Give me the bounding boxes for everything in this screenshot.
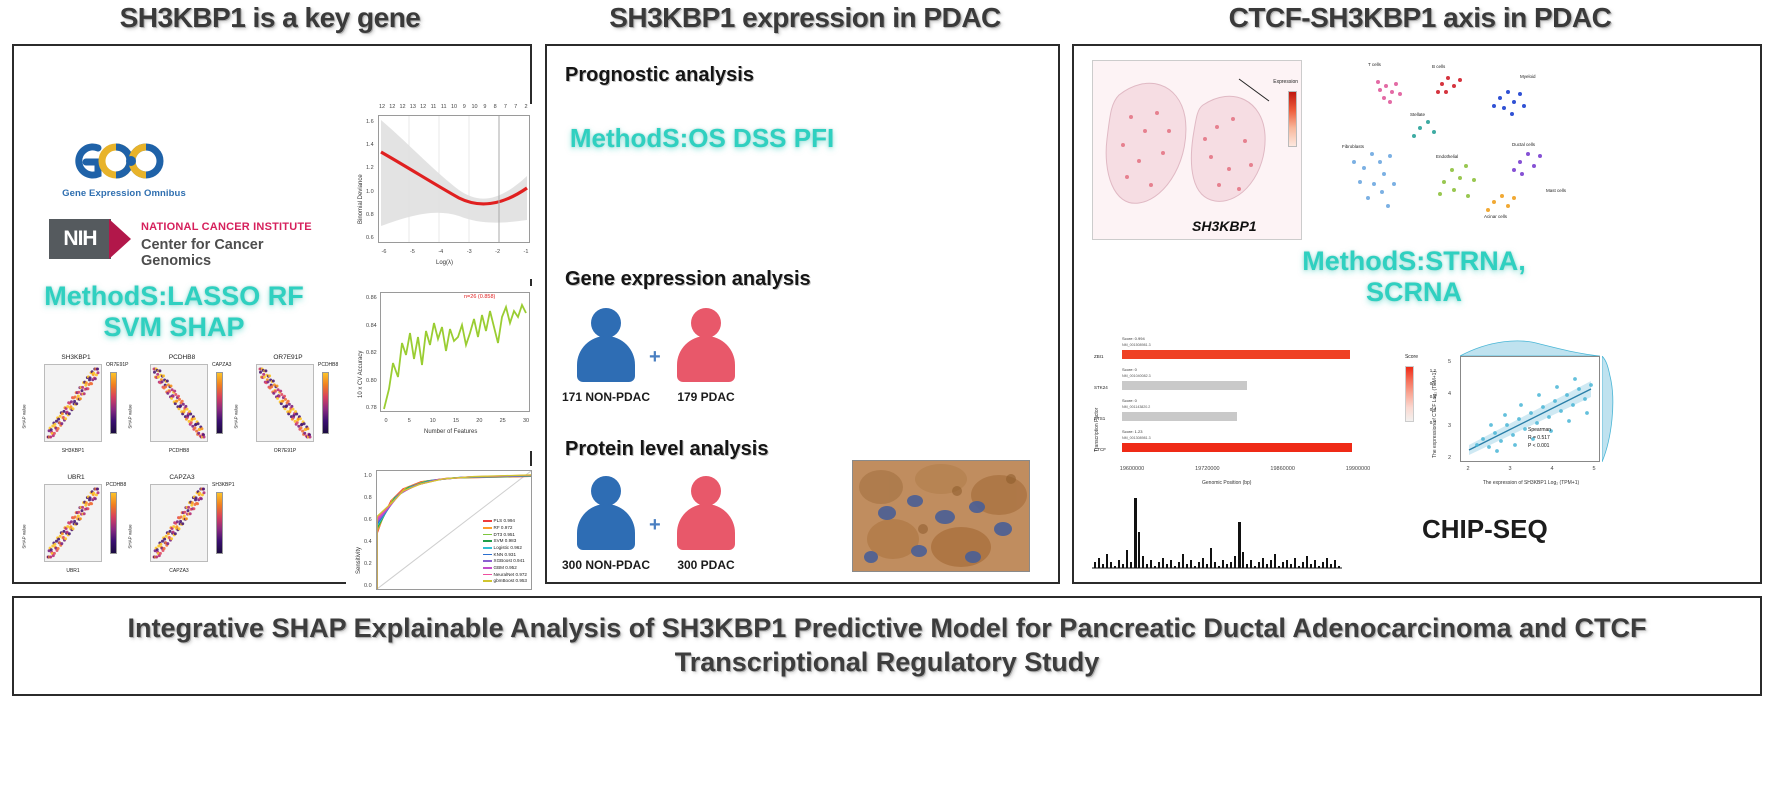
roc-legend-item: PLS 0.994 [483,518,527,525]
correlation-x-tick: 5 [1592,466,1595,472]
shap-points [151,485,207,561]
geo-logo: Gene Expression Omnibus [54,136,194,208]
roc-legend-label: gbmBoost 0.953 [494,578,527,583]
lasso-y-tick: 1.2 [366,165,374,171]
correlation-stat-line: Spearman [1528,426,1551,434]
panel3-methods-text: MethodS:STRNA, SCRNA [1254,246,1574,308]
person-head-icon [591,476,621,506]
shap-points [45,485,101,561]
roc-legend-swatch [483,540,492,542]
shap-colorbar [216,372,223,434]
lasso-top-count: 9 [483,104,486,110]
chip-score-text: Score: 0.994 [1122,336,1145,341]
ctcf-correlation-plot: SpearmanR = 0.517P < 0.001 The expressio… [1420,334,1645,499]
shap-y-label: SHAP value [128,524,133,548]
shap-plot-title: OR7E91P [238,354,338,361]
shap-y-label: SHAP value [22,524,27,548]
panel1-methods-text: MethodS:LASSO RF SVM SHAP [24,281,324,343]
chip-x-tick: 19720000 [1195,466,1219,472]
person-body-icon [677,336,735,382]
lasso-y-tick: 0.8 [366,212,374,218]
roc-y-tick: 0.4 [364,539,372,545]
roc-legend-item: Logistic 0.962 [483,545,527,552]
cv-x-tick: 20 [476,418,482,424]
shap-x-label: SH3KBP1 [44,448,102,454]
shap-dependence-plot: PCDHB8SHAP valuePCDHB8CAPZA3 [132,354,232,466]
cv-x-tick: 10 [430,418,436,424]
roc-legend-item: GBM 0.952 [483,565,527,572]
panel-expression: Prognostic analysis MethodS:OS DSS PFI S… [545,44,1060,584]
roc-legend-swatch [483,574,492,576]
lasso-top-count: 12 [389,104,395,110]
shap-scatter-area [150,484,208,562]
chip-x-label: Genomic Position (bp) [1202,480,1251,486]
nci-line-1: NATIONAL CANCER INSTITUTE [141,221,312,233]
chip-tf-label: STK24 [1094,385,1108,390]
shap-points [257,365,313,441]
shap-x-label: UBR1 [44,568,102,574]
roc-legend-swatch [483,527,492,529]
correlation-y-tick: 3 [1448,423,1451,429]
chip-track-bar [1122,443,1352,452]
cv-x-tick: 0 [384,418,387,424]
scrna-tsne-plot: T cellsB cellsMyeloidFibroblastsEndothel… [1324,58,1579,243]
correlation-x-tick: 2 [1466,466,1469,472]
cohort-label-nonpdac-expression: 171 NON-PDAC [551,390,661,404]
shap-dependence-grid: SH3KBP1SHAP valueSH3KBP1OR7E91PPCDHB8SHA… [22,336,337,576]
cv-x-tick: 5 [408,418,411,424]
cohort-label-pdac-expression: 179 PDAC [651,390,761,404]
plus-icon-protein: + [649,514,661,537]
cv-x-tick: 15 [453,418,459,424]
ihc-stain-image [852,460,1030,572]
roc-legend-swatch [483,534,492,536]
tsne-cluster-label: B cells [1432,64,1445,69]
chip-x-tick: 19860000 [1270,466,1294,472]
chip-tf-label: ZBI1 [1094,354,1104,359]
tsne-cluster-label: Acinar cells [1484,214,1507,219]
protein-level-analysis-title: Protein level analysis [565,438,768,461]
abstract-title: Integrative SHAP Explainable Analysis of… [14,612,1760,680]
correlation-y-tick: 5 [1448,359,1451,365]
roc-legend-item: KNN 0.931 [483,552,527,559]
lasso-x-tick: -6 [382,249,387,255]
lasso-x-label: Log(λ) [436,260,453,266]
person-body-icon [677,504,735,550]
correlation-x-tick: 3 [1508,466,1511,472]
person-head-icon [691,308,721,338]
lasso-cv-plot: 121212131211111091098772 Binomial Devian… [346,104,536,279]
roc-y-tick: 0.8 [364,495,372,501]
shap-colorbar-label: CAPZA3 [212,362,231,368]
person-body-icon [577,336,635,382]
person-body-icon [577,504,635,550]
lasso-plot-area [378,115,530,243]
nih-logo-mark: NIH [49,219,111,259]
roc-plot-area: PLS 0.994RF 0.972DT3 0.951SVM 0.983Logis… [376,470,532,590]
shap-y-label: SHAP value [128,404,133,428]
chip-x-tick: 19900000 [1346,466,1370,472]
chip-x-tick: 19600000 [1120,466,1144,472]
roc-y-tick: 0.6 [364,517,372,523]
chip-track-plot: Transcription Factor ZBI1Score: 0.994NM_… [1092,332,1392,492]
chip-colorbar [1405,366,1414,422]
lasso-top-count: 10 [451,104,457,110]
spatial-gene-label: SH3KBP1 [1192,218,1257,234]
chip-accession: NM_001143820.2 [1122,405,1150,409]
chipseq-title: CHIP-SEQ [1422,514,1548,545]
chip-track-rows: ZBI1Score: 0.994NM_001508981.3STK24Score… [1106,336,1374,460]
column-title-2: SH3KBP1 expression in PDAC [545,2,1065,34]
chip-score-text: Score: 0 [1122,398,1137,403]
correlation-side-density [1602,356,1620,462]
cv-annotation: n=26 (0.858) [464,294,495,300]
chip-accession: NM_001508981.3 [1122,343,1151,347]
cv-y-tick: 0.86 [366,295,377,301]
lasso-y-tick: 1.4 [366,142,374,148]
roc-legend-swatch [483,567,492,569]
nci-line-2: Center for Cancer Genomics [141,237,329,269]
geo-logo-caption: Gene Expression Omnibus [54,188,194,199]
lasso-top-count: 13 [410,104,416,110]
tsne-clusters [1324,58,1579,243]
shap-y-label: SHAP value [234,404,239,428]
roc-legend-item: gbmBoost 0.953 [483,578,527,585]
roc-legend-label: GBM 0.952 [494,565,517,570]
tsne-cluster-label: Mast cells [1546,188,1566,193]
lasso-top-count: 8 [494,104,497,110]
cv-x-tick: 30 [523,418,529,424]
shap-colorbar [110,372,117,434]
shap-colorbar-label: OR7E91P [106,362,129,368]
shap-scatter-area [44,364,102,442]
shap-plot-title: UBR1 [26,474,126,481]
shap-colorbar [216,492,223,554]
cv-x-tick: 25 [500,418,506,424]
roc-legend-swatch [483,547,492,549]
roc-legend-swatch [483,560,492,562]
tsne-cluster-label: Fibroblasts [1342,144,1364,149]
abstract-title-bar: Integrative SHAP Explainable Analysis of… [12,596,1762,696]
correlation-top-density [1460,338,1600,356]
shap-y-label: SHAP value [22,404,27,428]
spatial-colorbar [1288,91,1297,147]
roc-legend-swatch [483,554,492,556]
panel-ctcf-axis: Expression 1.51.00.50.0 SH3KBP1 [1072,44,1762,584]
shap-points [151,365,207,441]
correlation-stat-line: R = 0.517 [1528,434,1551,442]
chip-accession: NM_001040082.3 [1122,374,1151,378]
cv-y-tick: 0.78 [366,405,377,411]
person-head-icon [591,308,621,338]
correlation-y-tick: 2 [1448,455,1451,461]
correlation-y-label: The expression of CTCF Log₂ (TPM+1) [1432,371,1438,458]
column-title-3: CTCF-SH3KBP1 axis in PDAC [1070,2,1770,34]
roc-legend-label: XGBoost 0.941 [494,558,525,563]
roc-y-tick: 1.0 [364,473,372,479]
nih-arrow-icon [109,219,131,259]
roc-legend: PLS 0.994RF 0.972DT3 0.951SVM 0.983Logis… [483,518,527,585]
cohort-icon-pdac-expression [677,308,735,382]
nih-logo: NIH NATIONAL CANCER INSTITUTE Center for… [49,216,329,264]
tsne-cluster-label: Ductal cells [1512,142,1535,147]
cv-y-tick: 0.82 [366,350,377,356]
chipseq-signal [1092,492,1342,570]
chip-tf-label: CTCF [1094,447,1106,452]
shap-colorbar-label: SH3KBP1 [212,482,235,488]
roc-legend-label: NeuralNet 0.972 [494,572,527,577]
lasso-curve [379,116,529,242]
chip-y-label: Transcription Factor [1094,408,1100,452]
correlation-statistics: SpearmanR = 0.517P < 0.001 [1528,426,1551,450]
roc-legend-label: Logistic 0.962 [494,545,522,550]
cohort-label-pdac-protein: 300 PDAC [651,558,761,572]
geo-logo-mark [54,136,184,186]
roc-legend-label: RF 0.972 [494,525,513,530]
cohort-label-nonpdac-protein: 300 NON-PDAC [551,558,661,572]
lasso-x-tick: -4 [438,249,443,255]
lasso-y-tick: 1.6 [366,119,374,125]
chip-accession: NM_001308981.3 [1122,436,1151,440]
correlation-x-label: The expression of SH3KBP1 Log₂ (TPM+1) [1476,480,1586,486]
prognostic-analysis-title: Prognostic analysis [565,64,754,87]
shap-scatter-area [256,364,314,442]
lasso-y-tick: 0.6 [366,235,374,241]
plus-icon-expression: + [649,346,661,369]
tsne-cluster-label: T cells [1368,62,1381,67]
chip-track-bar [1122,350,1350,359]
lasso-top-count: 2 [524,104,527,110]
shap-dependence-plot: CAPZA3SHAP valueCAPZA3SH3KBP1 [132,474,232,586]
cohort-icon-pdac-protein [677,476,735,550]
roc-legend-item: RF 0.972 [483,525,527,532]
chip-colorbar-title: Score [1405,354,1418,360]
lasso-y-tick: 1.0 [366,189,374,195]
roc-legend-swatch [483,520,492,522]
lasso-top-count: 12 [420,104,426,110]
lasso-top-count: 10 [472,104,478,110]
roc-legend-item: DT3 0.951 [483,532,527,539]
shap-colorbar [110,492,117,554]
shap-plot-title: PCDHB8 [132,354,232,361]
correlation-x-tick: 4 [1550,466,1553,472]
shap-scatter-area [150,364,208,442]
tsne-cluster-label: Endothelial [1436,154,1458,159]
lasso-x-tick: -2 [495,249,500,255]
roc-y-tick: 0.2 [364,561,372,567]
roc-legend-label: SVM 0.983 [494,538,517,543]
shap-x-label: PCDHB8 [150,448,208,454]
shap-colorbar-label: PCDHB8 [318,362,338,368]
roc-y-label: Sensitivity [356,547,362,574]
roc-legend-item: SVM 0.983 [483,538,527,545]
shap-dependence-plot: UBR1SHAP valueUBR1PCDHB8 [26,474,126,586]
cv-curve [381,293,529,411]
roc-legend-swatch [483,580,492,582]
roc-y-tick: 0.0 [364,583,372,589]
lasso-top-count: 11 [431,104,437,110]
chip-score-text: Score: 0 [1122,367,1137,372]
cv-y-tick: 0.84 [366,323,377,329]
cv-x-label: Number of Features [424,429,477,435]
cv-y-tick: 0.80 [366,378,377,384]
cv-accuracy-plot: n=26 (0.858) 10 x CV Accuracy Number of … [346,286,536,451]
lasso-top-count: 11 [441,104,447,110]
lasso-x-tick: -1 [524,249,529,255]
shap-scatter-area [44,484,102,562]
shap-dependence-plot: OR7E91PSHAP valueOR7E91PPCDHB8 [238,354,338,466]
roc-legend-label: DT3 0.951 [494,532,515,537]
roc-legend-item: XGBoost 0.941 [483,558,527,565]
column-title-1: SH3KBP1 is a key gene [10,2,530,34]
shap-dependence-plot: SH3KBP1SHAP valueSH3KBP1OR7E91P [26,354,126,466]
shap-points [45,365,101,441]
roc-legend-label: PLS 0.994 [494,518,515,523]
lasso-y-label: Binomial Deviance [358,174,364,224]
spatial-colorbar-title: Expression [1273,79,1298,85]
cv-plot-area [380,292,530,412]
lasso-top-count: 12 [400,104,406,110]
lasso-top-count: 7 [514,104,517,110]
correlation-y-tick: 4 [1448,391,1451,397]
roc-legend-label: KNN 0.931 [494,552,516,557]
cohort-icon-nonpdac-protein [577,476,635,550]
shap-colorbar [322,372,329,434]
person-head-icon [691,476,721,506]
chip-tf-label: ETS1 [1094,416,1105,421]
lasso-top-counts: 121212131211111091098772 [378,104,530,113]
shap-colorbar-label: PCDHB8 [106,482,126,488]
shap-plot-title: CAPZA3 [132,474,232,481]
chip-score-text: Score: 1.23 [1122,429,1142,434]
lasso-top-count: 12 [379,104,385,110]
cv-y-label: 10 x CV Accuracy [358,351,364,398]
panel-key-gene: Gene Expression Omnibus NIH NATIONAL CAN… [12,44,532,584]
chip-track-bar [1122,381,1247,390]
shap-x-label: CAPZA3 [150,568,208,574]
shap-plot-title: SH3KBP1 [26,354,126,361]
tsne-cluster-label: Stellate [1410,112,1425,117]
panel2-methods-text: MethodS:OS DSS PFI [567,124,837,154]
cohort-icon-nonpdac-expression [577,308,635,382]
chip-track-bar [1122,412,1237,421]
correlation-stat-line: P < 0.001 [1528,442,1551,450]
gene-expression-analysis-title: Gene expression analysis [565,268,811,291]
lasso-x-tick: -5 [410,249,415,255]
spatial-transcriptomics-slide: Expression 1.51.00.50.0 [1092,60,1302,240]
lasso-top-count: 7 [504,104,507,110]
chipseq-peak-track [1092,492,1342,570]
shap-x-label: OR7E91P [256,448,314,454]
tsne-cluster-label: Myeloid [1520,74,1536,79]
lasso-top-count: 9 [463,104,466,110]
lasso-x-tick: -3 [467,249,472,255]
spatial-tissue-map [1093,61,1302,240]
graphical-abstract: SH3KBP1 is a key gene SH3KBP1 expression… [0,0,1772,808]
roc-legend-item: NeuralNet 0.972 [483,572,527,579]
ihc-tissue-render [853,461,1030,572]
